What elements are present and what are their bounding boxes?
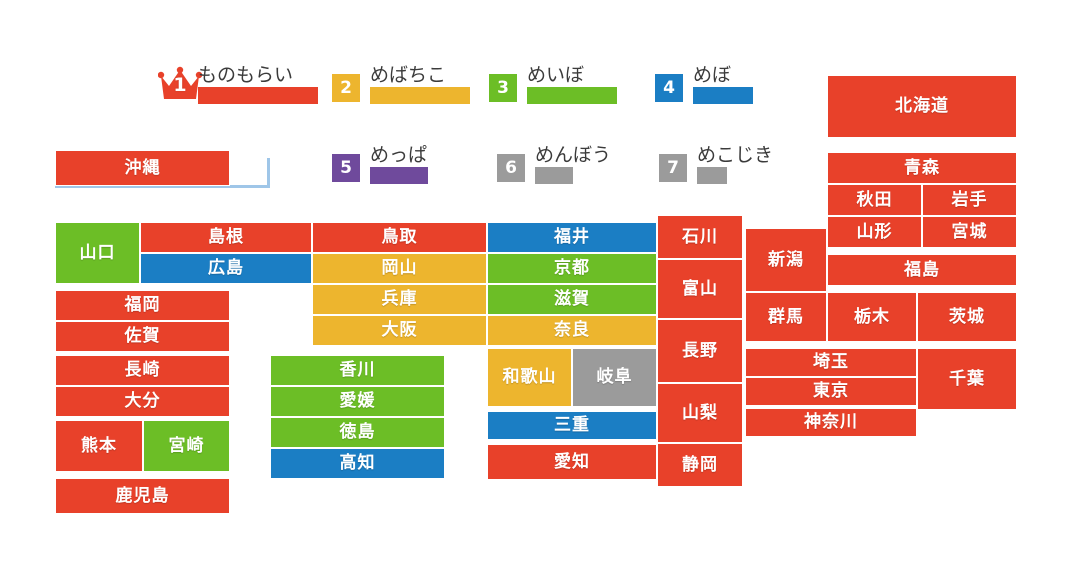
- prefecture-cell[interactable]: 三重: [487, 411, 657, 440]
- legend-color-bar: [370, 87, 470, 104]
- prefecture-cell[interactable]: 長野: [657, 319, 743, 383]
- legend-color-bar: [370, 167, 428, 184]
- prefecture-cell[interactable]: 福島: [827, 254, 1017, 286]
- prefecture-label: 岐阜: [597, 369, 633, 386]
- prefecture-label: 静岡: [682, 457, 718, 474]
- legend-label: ものもらい: [198, 60, 293, 87]
- prefecture-label: 宮城: [952, 224, 988, 241]
- prefecture-cell[interactable]: 兵庫: [312, 284, 487, 315]
- prefecture-label: 長崎: [125, 362, 161, 379]
- prefecture-label: 鹿児島: [116, 488, 170, 505]
- legend-color-bar: [693, 87, 753, 104]
- prefecture-cell[interactable]: 山口: [55, 222, 140, 284]
- prefecture-label: 京都: [554, 260, 590, 277]
- legend-rank-badge: 3: [489, 74, 517, 102]
- prefecture-cell[interactable]: 岩手: [922, 184, 1017, 216]
- prefecture-label: 熊本: [81, 438, 117, 455]
- legend-color-bar: [697, 167, 727, 184]
- prefecture-label: 広島: [208, 260, 244, 277]
- prefecture-cell[interactable]: 島根: [140, 222, 312, 253]
- legend-rank-badge: 7: [659, 154, 687, 182]
- prefecture-label: 大分: [125, 393, 161, 410]
- prefecture-cell[interactable]: 愛媛: [270, 386, 445, 417]
- prefecture-cell[interactable]: 石川: [657, 215, 743, 259]
- prefecture-label: 山形: [857, 224, 893, 241]
- prefecture-cell[interactable]: 宮城: [922, 216, 1017, 248]
- legend-rank-badge: 2: [332, 74, 360, 102]
- prefecture-cell[interactable]: 静岡: [657, 443, 743, 487]
- prefecture-cell[interactable]: 大分: [55, 386, 230, 417]
- prefecture-cell[interactable]: 高知: [270, 448, 445, 479]
- prefecture-label: 三重: [554, 417, 590, 434]
- prefecture-cell[interactable]: 埼玉: [745, 348, 917, 377]
- prefecture-cell[interactable]: 栃木: [827, 292, 917, 342]
- legend-label: めっぱ: [370, 140, 427, 167]
- legend-label: めんぼう: [535, 140, 611, 167]
- prefecture-cell[interactable]: 神奈川: [745, 408, 917, 437]
- prefecture-label: 岡山: [382, 260, 418, 277]
- prefecture-cell[interactable]: 佐賀: [55, 321, 230, 352]
- legend-color-bar: [527, 87, 617, 104]
- prefecture-label: 青森: [904, 160, 940, 177]
- prefecture-label: 高知: [340, 455, 376, 472]
- prefecture-label: 福岡: [125, 297, 161, 314]
- prefecture-label: 沖縄: [125, 160, 161, 177]
- prefecture-label: 富山: [682, 281, 718, 298]
- prefecture-cell[interactable]: 富山: [657, 259, 743, 319]
- prefecture-label: 滋賀: [554, 291, 590, 308]
- prefecture-cell[interactable]: 山梨: [657, 383, 743, 443]
- prefecture-label: 東京: [813, 383, 849, 400]
- legend-label: めこじき: [697, 140, 773, 167]
- prefecture-cell[interactable]: 長崎: [55, 355, 230, 386]
- prefecture-label: 北海道: [895, 98, 949, 115]
- prefecture-label: 徳島: [340, 424, 376, 441]
- prefecture-label: 千葉: [949, 371, 985, 388]
- map-infographic: 1ものもらい2めばちこ3めいぼ4めぼ5めっぱ6めんぼう7めこじき 沖縄北海道青森…: [0, 0, 1080, 561]
- prefecture-cell[interactable]: 千葉: [917, 348, 1017, 410]
- prefecture-label: 山梨: [682, 405, 718, 422]
- prefecture-cell[interactable]: 滋賀: [487, 284, 657, 315]
- prefecture-label: 秋田: [857, 192, 893, 209]
- prefecture-label: 和歌山: [503, 369, 557, 386]
- legend-label: めぼ: [693, 60, 731, 87]
- prefecture-label: 大阪: [382, 322, 418, 339]
- prefecture-cell[interactable]: 沖縄: [55, 150, 230, 186]
- legend-rank-badge: 5: [332, 154, 360, 182]
- prefecture-label: 埼玉: [813, 354, 849, 371]
- prefecture-cell[interactable]: 愛知: [487, 444, 657, 480]
- legend-color-bar: [535, 167, 573, 184]
- prefecture-label: 島根: [208, 229, 244, 246]
- prefecture-label: 栃木: [854, 309, 890, 326]
- prefecture-cell[interactable]: 福岡: [55, 290, 230, 321]
- prefecture-label: 愛媛: [340, 393, 376, 410]
- prefecture-label: 福井: [554, 229, 590, 246]
- prefecture-label: 新潟: [768, 252, 804, 269]
- legend-rank-badge: 6: [497, 154, 525, 182]
- crown-icon: 1: [158, 66, 202, 104]
- prefecture-cell[interactable]: 秋田: [827, 184, 922, 216]
- prefecture-label: 香川: [340, 362, 376, 379]
- prefecture-label: 奈良: [554, 322, 590, 339]
- prefecture-label: 石川: [682, 229, 718, 246]
- legend-rank-badge: 4: [655, 74, 683, 102]
- prefecture-label: 山口: [80, 245, 116, 262]
- prefecture-cell[interactable]: 青森: [827, 152, 1017, 184]
- prefecture-label: 鳥取: [382, 229, 418, 246]
- prefecture-label: 群馬: [768, 309, 804, 326]
- prefecture-cell[interactable]: 宮崎: [143, 420, 230, 472]
- prefecture-cell[interactable]: 福井: [487, 222, 657, 253]
- prefecture-cell[interactable]: 香川: [270, 355, 445, 386]
- prefecture-label: 宮崎: [169, 438, 205, 455]
- prefecture-cell[interactable]: 山形: [827, 216, 922, 248]
- prefecture-cell[interactable]: 新潟: [745, 228, 827, 292]
- prefecture-cell[interactable]: 京都: [487, 253, 657, 284]
- prefecture-cell[interactable]: 東京: [745, 377, 917, 406]
- prefecture-label: 兵庫: [382, 291, 418, 308]
- prefecture-label: 神奈川: [804, 414, 858, 431]
- prefecture-label: 岩手: [952, 192, 988, 209]
- prefecture-cell[interactable]: 徳島: [270, 417, 445, 448]
- prefecture-cell[interactable]: 岐阜: [572, 348, 657, 407]
- legend-label: めばちこ: [370, 60, 446, 87]
- prefecture-cell[interactable]: 岡山: [312, 253, 487, 284]
- prefecture-label: 茨城: [949, 309, 985, 326]
- legend-rank-number: 1: [158, 74, 202, 96]
- prefecture-cell[interactable]: 鹿児島: [55, 478, 230, 514]
- prefecture-cell[interactable]: 鳥取: [312, 222, 487, 253]
- prefecture-cell[interactable]: 熊本: [55, 420, 143, 472]
- prefecture-cell[interactable]: 奈良: [487, 315, 657, 346]
- prefecture-label: 長野: [682, 343, 718, 360]
- legend-label: めいぼ: [527, 60, 584, 87]
- legend-color-bar: [198, 87, 318, 104]
- prefecture-cell[interactable]: 北海道: [827, 75, 1017, 138]
- prefecture-cell[interactable]: 大阪: [312, 315, 487, 346]
- prefecture-label: 福島: [904, 262, 940, 279]
- prefecture-cell[interactable]: 広島: [140, 253, 312, 284]
- prefecture-label: 愛知: [554, 454, 590, 471]
- prefecture-cell[interactable]: 和歌山: [487, 348, 572, 407]
- prefecture-cell[interactable]: 茨城: [917, 292, 1017, 342]
- prefecture-cell[interactable]: 群馬: [745, 292, 827, 342]
- prefecture-label: 佐賀: [125, 328, 161, 345]
